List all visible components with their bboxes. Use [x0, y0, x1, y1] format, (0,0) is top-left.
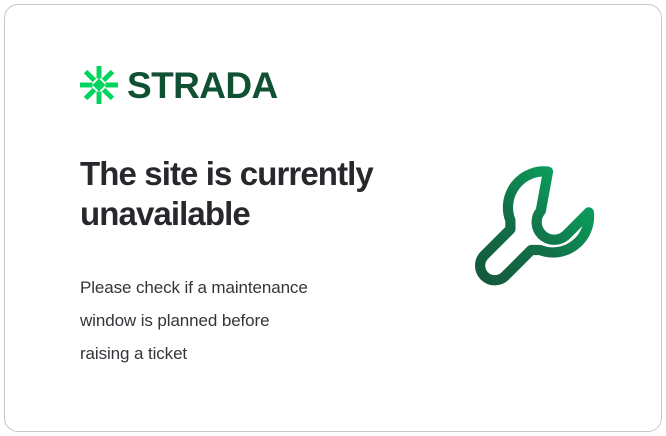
page-description: Please check if a maintenance window is …	[80, 271, 380, 370]
brand-wordmark: STRADA	[127, 67, 278, 104]
content-column: STRADA The site is currently unavailable…	[80, 62, 440, 370]
description-line: window is planned before	[80, 304, 380, 337]
description-line: raising a ticket	[80, 337, 380, 370]
wrench-icon	[456, 146, 616, 306]
brand-lockup: STRADA	[80, 62, 440, 108]
page-title: The site is currently unavailable	[80, 154, 420, 235]
strada-asterisk-icon	[80, 66, 118, 104]
description-line: Please check if a maintenance	[80, 271, 380, 304]
error-page: STRADA The site is currently unavailable…	[0, 0, 666, 436]
